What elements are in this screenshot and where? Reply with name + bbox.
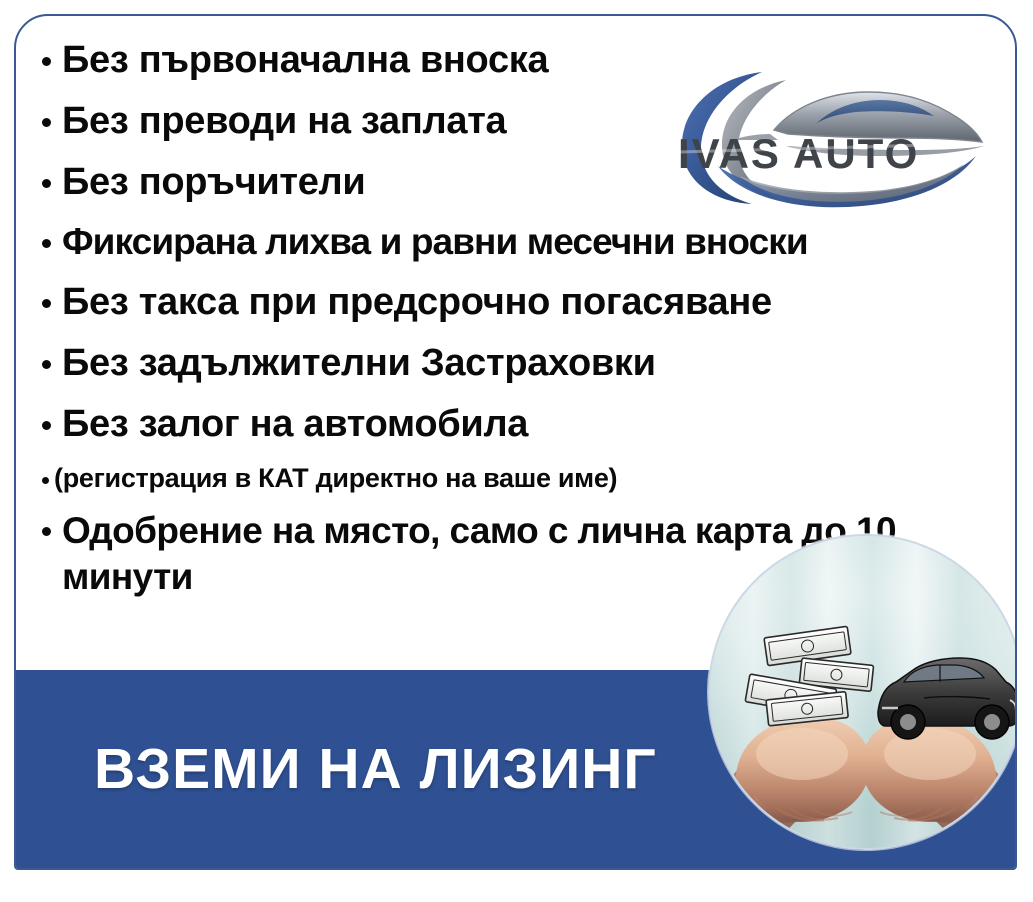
list-item-label: Без такса при предсрочно погасяване	[62, 281, 772, 323]
list-item: Фиксирана лихва и равни месечни вноски	[16, 220, 1017, 264]
money-stacks-sketch	[745, 626, 873, 726]
list-item-label: Без задължителни Застраховки	[62, 342, 656, 384]
left-hand	[736, 717, 870, 822]
list-item-label: (регистрация в КАТ директно на ваше име)	[54, 463, 617, 493]
bullet-dot-icon	[42, 179, 51, 188]
benefits-list: Без първоначална вноска Без преводи на з…	[16, 38, 1017, 616]
list-item: Без такса при предсрочно погасяване	[16, 280, 1017, 325]
list-item: Без залог на автомобила	[16, 402, 1017, 447]
bullet-dot-icon	[42, 299, 51, 308]
list-item-label: Без поръчители	[62, 161, 365, 203]
bullet-dot-icon	[42, 118, 51, 127]
advertisement-card: IVAS AUTO Без първоначална вноска Без пр…	[14, 14, 1017, 870]
list-item: Без първоначална вноска	[16, 38, 1017, 83]
photo-scene	[710, 536, 1017, 848]
bullet-dot-icon	[42, 360, 51, 369]
cta-headline: ВЗЕМИ НА ЛИЗИНГ	[94, 736, 657, 802]
bullet-dot-icon	[42, 477, 49, 484]
list-item: Без задължителни Застраховки	[16, 341, 1017, 386]
list-item: Без поръчители	[16, 160, 1017, 205]
bullet-dot-icon	[42, 239, 51, 248]
list-item-label: Без залог на автомобила	[62, 403, 528, 445]
list-item-label: Без преводи на заплата	[62, 100, 506, 142]
bullet-dot-icon	[42, 421, 51, 430]
list-item-label: Без първоначална вноска	[62, 39, 548, 81]
list-item-label: Фиксирана лихва и равни месечни вноски	[62, 221, 808, 262]
bullet-dot-icon	[42, 57, 51, 66]
list-item-note: (регистрация в КАТ директно на ваше име)	[16, 463, 1017, 495]
hands-money-car-photo	[708, 534, 1017, 850]
bullet-dot-icon	[42, 527, 51, 536]
list-item: Без преводи на заплата	[16, 99, 1017, 144]
right-hand	[862, 717, 996, 822]
